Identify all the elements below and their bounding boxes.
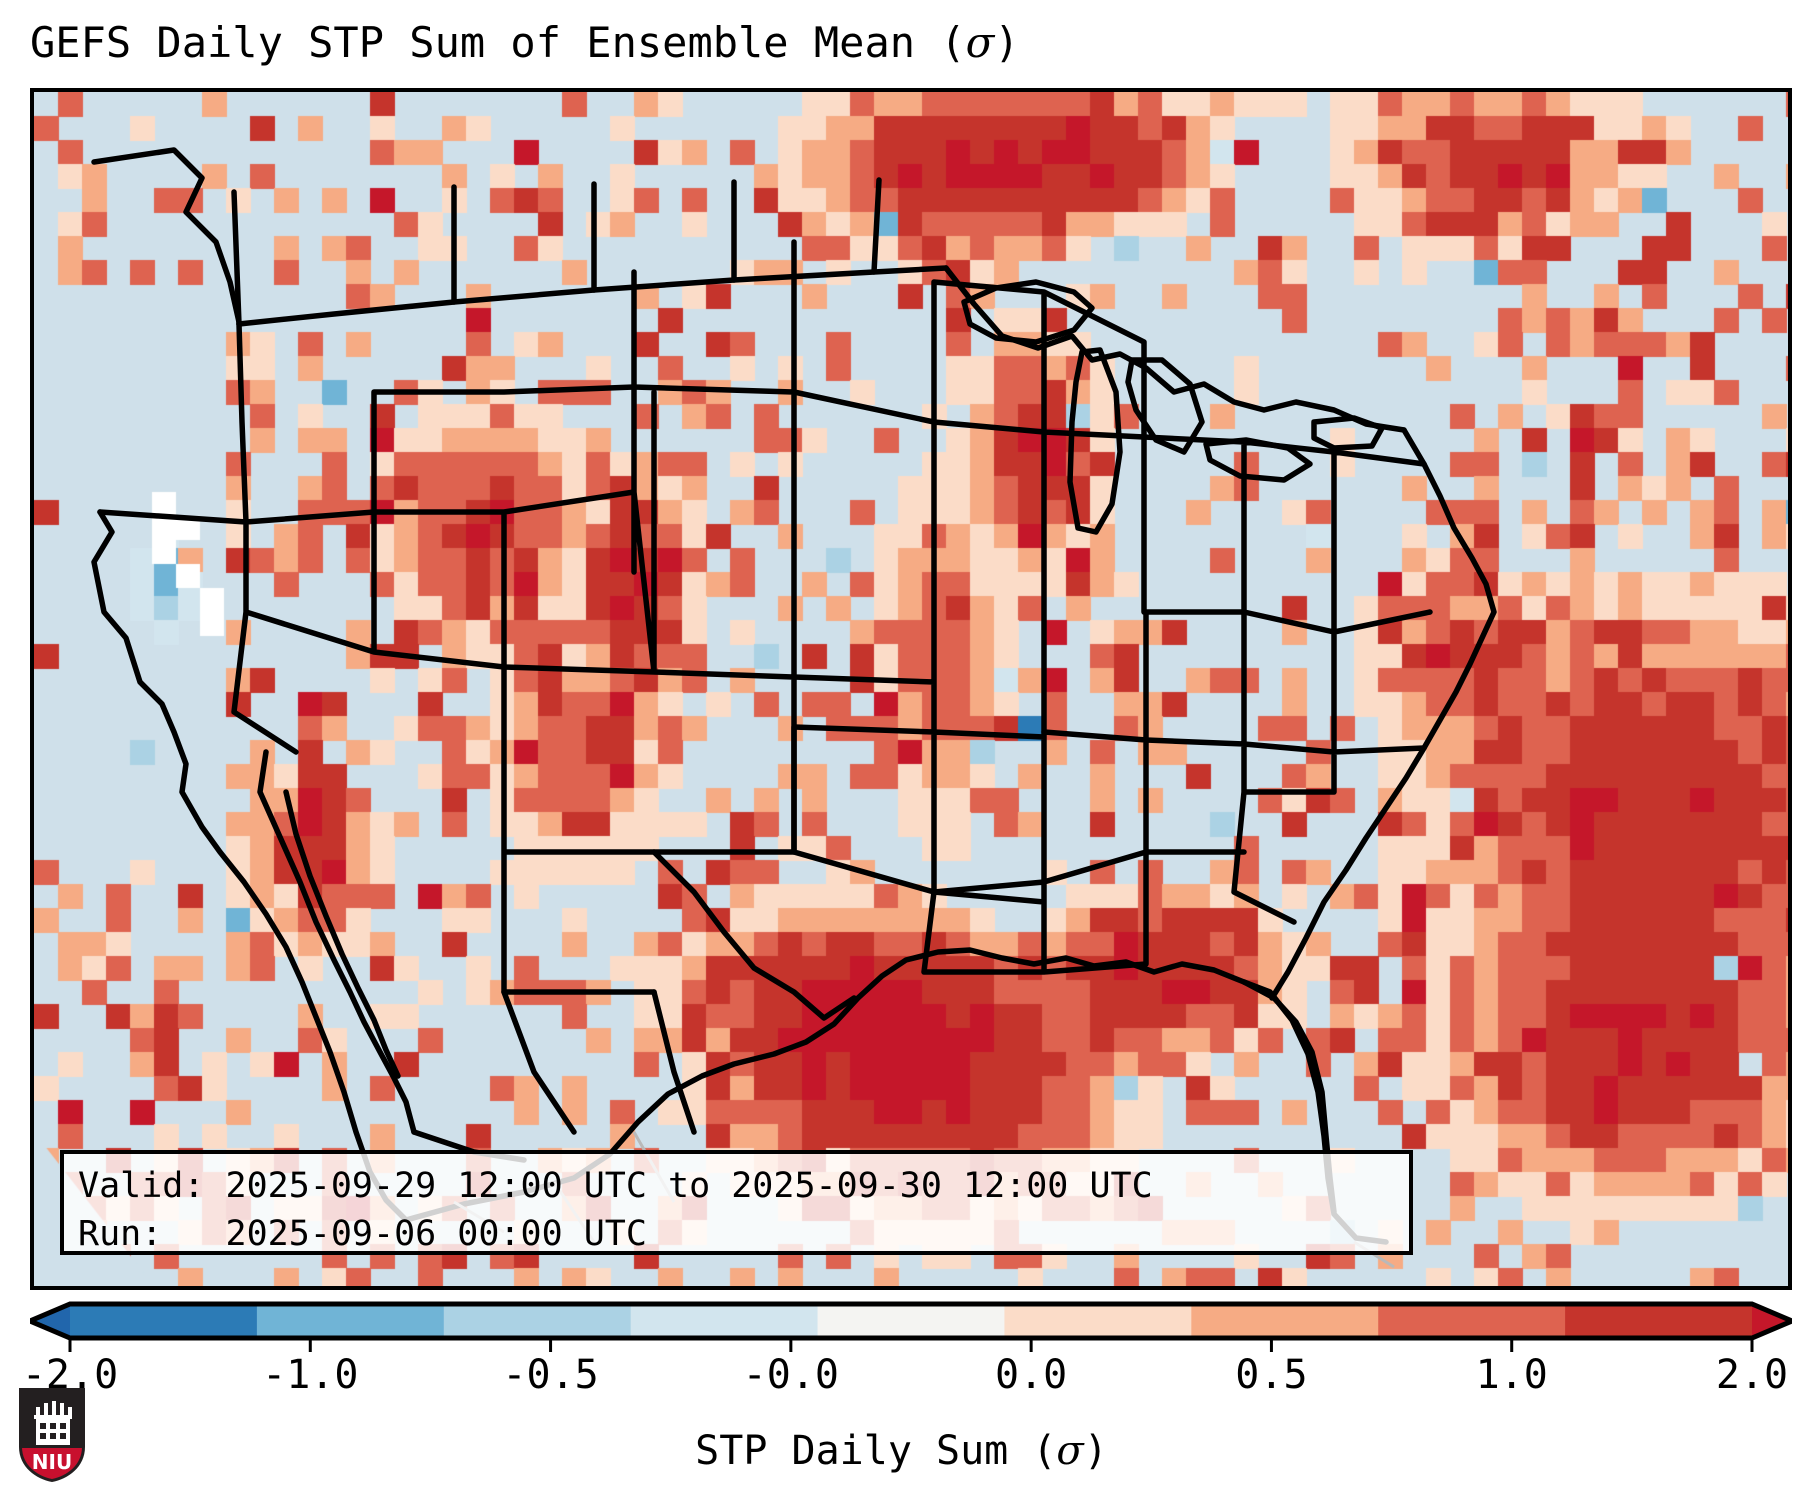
colorbar-tick-labels: -2.0-1.0-0.5-0.00.00.51.02.0 xyxy=(0,1352,1803,1412)
colorbar-segment xyxy=(70,1304,257,1338)
lake-michigan xyxy=(1070,350,1120,532)
colorbar-segment xyxy=(1378,1304,1565,1338)
mexico-interior xyxy=(414,992,694,1160)
colorbar-segment xyxy=(257,1304,444,1338)
colorbar-tick-label: 0.5 xyxy=(1235,1352,1307,1398)
cb-label-prefix: STP Daily Sum ( xyxy=(695,1428,1056,1474)
colorbar-segment xyxy=(631,1304,818,1338)
colorbar-segment xyxy=(1565,1304,1752,1338)
colorbar-segment xyxy=(818,1304,1005,1338)
state-borders-central xyxy=(794,437,1430,972)
colorbar-tick-label: 0.0 xyxy=(995,1352,1067,1398)
valid-run-info-box: Valid: 2025-09-29 12:00 UTC to 2025-09-3… xyxy=(60,1150,1413,1255)
figure-canvas: GEFS Daily STP Sum of Ensemble Mean (σ) xyxy=(0,0,1803,1506)
niu-logo: NIU xyxy=(16,1385,88,1485)
page-title: GEFS Daily STP Sum of Ensemble Mean (σ) xyxy=(30,18,1020,67)
niu-logo-text: NIU xyxy=(32,1450,72,1474)
colorbar-axis-label: STP Daily Sum (σ) xyxy=(0,1428,1803,1474)
gulf-of-california xyxy=(286,792,398,1076)
coastline-and-borders xyxy=(94,150,1494,1242)
map-outlines-layer xyxy=(34,92,1788,1286)
map-plot-area[interactable] xyxy=(30,88,1792,1290)
great-lakes-border xyxy=(946,268,1404,430)
colorbar-segment xyxy=(1004,1304,1191,1338)
rio-grande xyxy=(654,852,854,1018)
state-borders-west xyxy=(100,242,1144,992)
sigma-symbol: σ xyxy=(966,18,995,67)
colorbar-swatches[interactable] xyxy=(30,1300,1792,1352)
colorbar-tick-label: 2.0 xyxy=(1716,1352,1788,1398)
valid-line: Valid: 2025-09-29 12:00 UTC to 2025-09-3… xyxy=(78,1166,1153,1206)
lake-ontario xyxy=(1314,418,1382,448)
colorbar-tick-label: -1.0 xyxy=(262,1352,358,1398)
run-line: Run: 2025-09-06 00:00 UTC xyxy=(78,1214,647,1254)
colorbar-segment xyxy=(444,1304,631,1338)
atlantic-coastline xyxy=(1272,430,1494,998)
colorbar-tick-label: 1.0 xyxy=(1476,1352,1548,1398)
page-title-suffix: ) xyxy=(994,18,1019,67)
cb-label-suffix: ) xyxy=(1084,1428,1108,1474)
colorbar-segment xyxy=(1191,1304,1378,1338)
colorbar[interactable] xyxy=(30,1300,1792,1352)
cb-sigma-symbol: σ xyxy=(1056,1428,1083,1474)
colorbar-tick-label: -0.0 xyxy=(743,1352,839,1398)
colorbar-tick-label: -0.5 xyxy=(502,1352,598,1398)
canada-province-borders xyxy=(234,180,879,324)
page-title-text: GEFS Daily STP Sum of Ensemble Mean ( xyxy=(30,18,966,67)
